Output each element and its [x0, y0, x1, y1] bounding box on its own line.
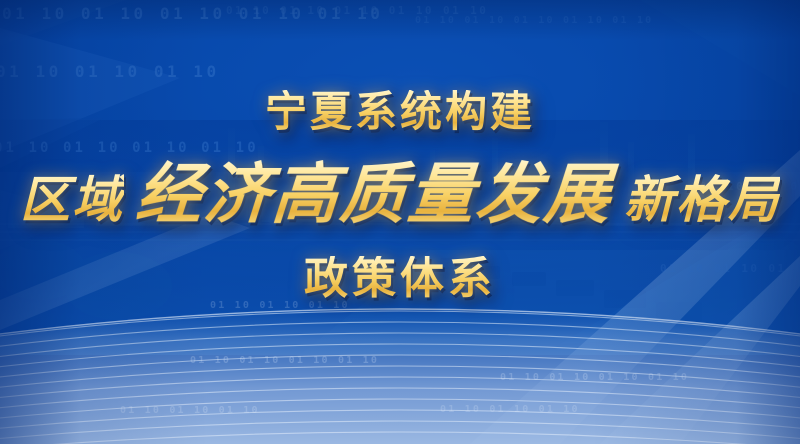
title-line-2-prefix: 区域 [20, 174, 124, 227]
title-line-3-text: 政策体系 [304, 256, 496, 302]
title-line-2: 区域 经济高质量发展 新格局 [20, 160, 780, 229]
title-line-2-emphasis: 经济高质量发展 [122, 160, 627, 229]
title-line-3: 政策体系 [304, 256, 496, 302]
title-line-2-suffix: 新格局 [624, 174, 780, 227]
title-line-1: 宁夏系统构建 [265, 90, 535, 134]
banner-title-block: 宁夏系统构建 区域 经济高质量发展 新格局 政策体系 [0, 0, 800, 444]
banner-root: 01 10 01 10 01 10 01 10 01 10 01 10 01 1… [0, 0, 800, 444]
title-line-1-text: 宁夏系统构建 [265, 90, 535, 134]
